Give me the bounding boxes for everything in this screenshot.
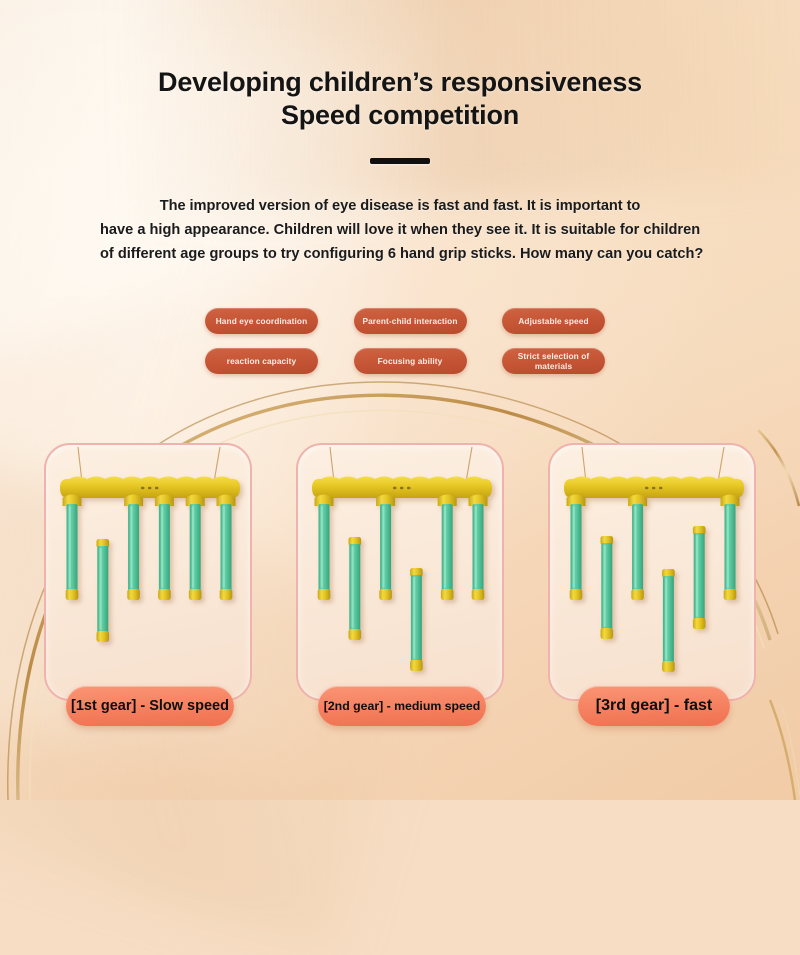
panel-caption-1st-gear[interactable]: [1st gear] - Slow speed xyxy=(66,686,234,726)
feature-pill-strict-selection-of-materials[interactable]: Strict selection of materials xyxy=(502,348,605,374)
body-copy-line-2: have a high appearance. Children will lo… xyxy=(100,218,700,242)
body-copy-line-1: The improved version of eye disease is f… xyxy=(100,194,700,218)
product-panel-2nd-gear[interactable] xyxy=(296,443,504,701)
toy-illustration-2 xyxy=(298,445,506,703)
feature-pill-row-2: reaction capacity Focusing ability Stric… xyxy=(205,348,605,374)
title-divider xyxy=(370,158,430,164)
feature-pill-parent-child-interaction[interactable]: Parent-child interaction xyxy=(354,308,467,334)
feature-pill-adjustable-speed[interactable]: Adjustable speed xyxy=(502,308,605,334)
panel-caption-2nd-gear[interactable]: [2nd gear] - medium speed xyxy=(318,686,486,726)
feature-pill-focusing-ability[interactable]: Focusing ability xyxy=(354,348,467,374)
toy-illustration-3 xyxy=(550,445,758,703)
feature-pill-reaction-capacity[interactable]: reaction capacity xyxy=(205,348,318,374)
body-copy-line-3: of different age groups to try configuri… xyxy=(100,242,700,266)
page-title-line-1: Developing children’s responsiveness xyxy=(0,66,800,99)
product-panel-3rd-gear[interactable] xyxy=(548,443,756,701)
header: Developing children’s responsiveness Spe… xyxy=(0,66,800,164)
product-panel-group xyxy=(0,443,800,723)
toy-illustration-1 xyxy=(46,445,254,703)
feature-pill-group: Hand eye coordination Parent-child inter… xyxy=(205,308,605,388)
product-panel-1st-gear[interactable] xyxy=(44,443,252,701)
feature-pill-hand-eye-coordination[interactable]: Hand eye coordination xyxy=(205,308,318,334)
panel-caption-3rd-gear[interactable]: [3rd gear] - fast xyxy=(578,686,730,726)
feature-pill-row-1: Hand eye coordination Parent-child inter… xyxy=(205,308,605,334)
body-copy: The improved version of eye disease is f… xyxy=(100,194,700,266)
page-title-line-2: Speed competition xyxy=(0,99,800,132)
